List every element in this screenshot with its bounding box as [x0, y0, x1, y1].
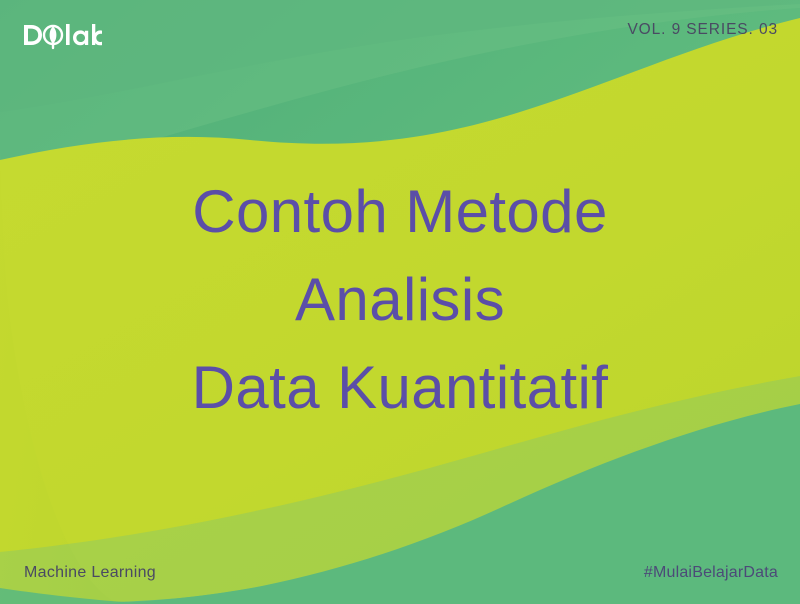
page-title: Contoh Metode Analisis Data Kuantitatif	[0, 168, 800, 432]
dqlab-leaf-mark-icon	[22, 20, 102, 50]
dqlab-logo[interactable]	[22, 18, 102, 52]
poster-canvas: VOL. 9 SERIES. 03 Contoh Metode Analisis…	[0, 0, 800, 604]
volume-series-label: VOL. 9 SERIES. 03	[627, 21, 778, 39]
hashtag-label: #MulaiBelajarData	[644, 564, 778, 582]
title-line-1: Contoh Metode	[0, 168, 800, 256]
title-line-2: Analisis	[0, 256, 800, 344]
category-label: Machine Learning	[24, 564, 156, 582]
title-line-3: Data Kuantitatif	[0, 344, 800, 432]
